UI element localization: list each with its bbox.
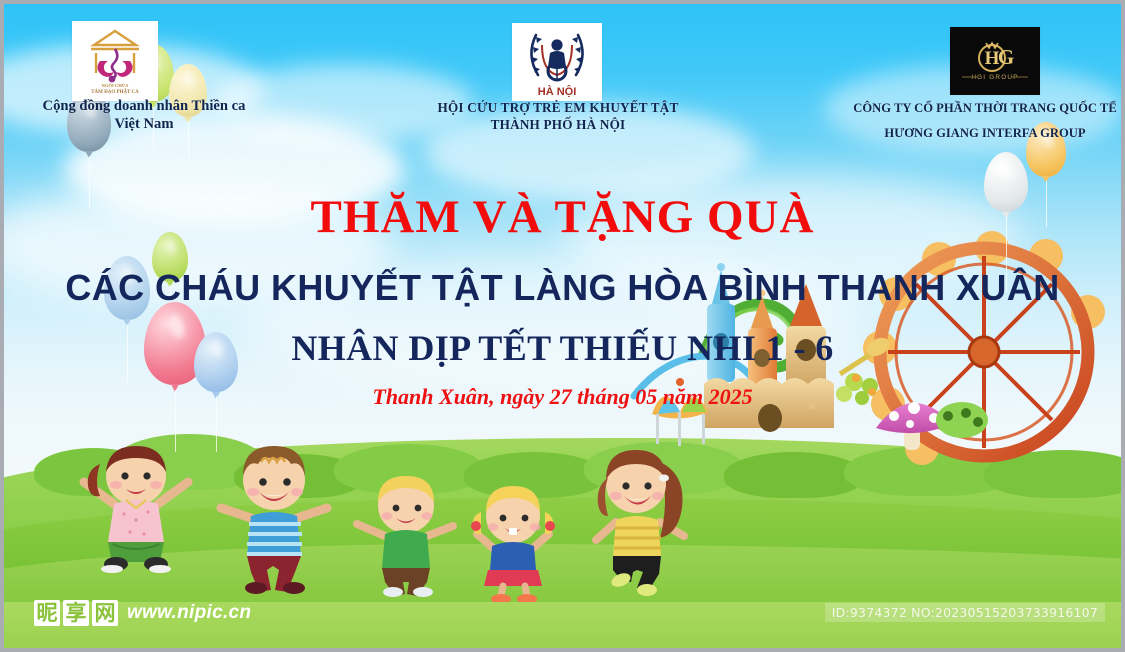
kid-girl-yellow-top (574, 444, 704, 596)
thien-ca-temple-logo: NGÔI CHÙA TÂM ĐẠO PHẬT CA (72, 21, 158, 101)
org-left-caption-line2: Việt Nam (14, 115, 274, 133)
poster-stage: NGÔI CHÙA TÂM ĐẠO PHẬT CA Cộng đồng doan… (4, 4, 1121, 648)
svg-text:G: G (998, 45, 1014, 69)
brand-char-1: 昵 (34, 600, 60, 626)
org-center-caption-line2: THÀNH PHỐ HÀ NỘI (402, 117, 714, 134)
ha-noi-logo-text: HÀ NỘI (538, 85, 577, 98)
nipic-url: www.nipic.cn (127, 602, 251, 624)
org-right-caption: CÔNG TY CỔ PHẦN THỜI TRANG QUỐC TẾ HƯƠNG… (840, 96, 1121, 146)
kid-girl-pink-top (76, 442, 198, 572)
org-left-caption-line1: Cộng đồng doanh nhân Thiền ca (14, 97, 274, 115)
org-right-caption-line1: CÔNG TY CỔ PHẦN THỜI TRANG QUỐC TẾ (840, 96, 1121, 121)
brand-char-2: 享 (63, 600, 89, 626)
poster-subheadline-1: CÁC CHÁU KHUYẾT TẬT LÀNG HÒA BÌNH THANH … (4, 267, 1121, 309)
kid-girl-blue-top (459, 482, 569, 604)
org-left-caption: Cộng đồng doanh nhân Thiền ca Việt Nam (14, 97, 274, 133)
kid-boy-green-shirt (349, 474, 465, 596)
poster-subheadline-2: NHÂN DỊP TẾT THIẾU NHI 1 - 6 (4, 327, 1121, 369)
nipic-brand-logo: 昵 享 网 (34, 600, 118, 626)
poster-headline: THĂM VÀ TẶNG QUÀ (4, 190, 1121, 244)
poster-date-line: Thanh Xuân, ngày 27 tháng 05 năm 2025 (4, 384, 1121, 410)
org-center-caption-line1: HỘI CỨU TRỢ TRẺ EM KHUYẾT TẬT (402, 100, 714, 117)
kid-boy-striped-shirt (209, 442, 339, 594)
nipic-watermark: 昵 享 网 www.nipic.cn (34, 600, 251, 626)
hgi-logo-text: HGI GROUP (971, 74, 1018, 81)
poster-banner: NGÔI CHÙA TÂM ĐẠO PHẬT CA Cộng đồng doan… (0, 0, 1125, 652)
brand-char-3: 网 (92, 600, 118, 626)
logo-line2: TÂM ĐẠO PHẬT CA (91, 89, 139, 95)
org-center-caption: HỘI CỨU TRỢ TRẺ EM KHUYẾT TẬT THÀNH PHỐ … (402, 100, 714, 133)
ha-noi-disabled-children-relief-logo: HÀ NỘI (512, 23, 602, 101)
org-right-caption-line2: HƯƠNG GIANG INTERFA GROUP (840, 121, 1121, 146)
watermark-id-text: ID:9374372 NO:20230515203733916107 (825, 603, 1105, 622)
hgi-group-logo: H G HGI GROUP (950, 27, 1040, 95)
logo-line1: NGÔI CHÙA (102, 83, 130, 88)
